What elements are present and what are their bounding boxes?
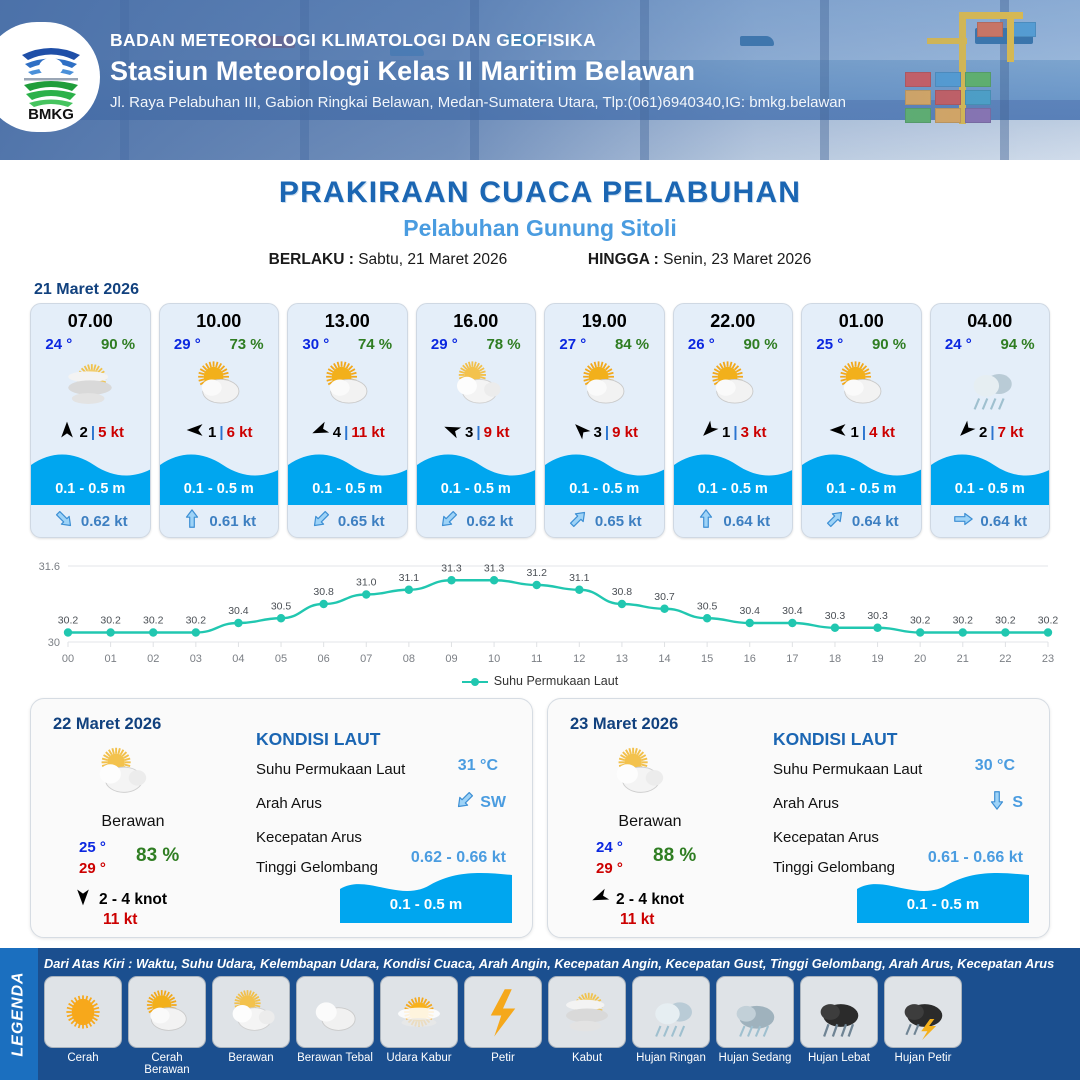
card-humidity: 74 % xyxy=(358,336,392,353)
summary-date: 22 Maret 2026 xyxy=(53,715,161,734)
wind-separator: | xyxy=(862,424,866,441)
card-wind-degree: 1 xyxy=(208,424,216,441)
svg-text:10: 10 xyxy=(488,653,500,665)
svg-text:30.5: 30.5 xyxy=(271,600,292,612)
summary-temp-max: 29 ° xyxy=(79,860,106,877)
summary-wind-range: 2 - 4 knot xyxy=(616,891,684,909)
legend-item-label: Udara Kabur xyxy=(380,1052,458,1064)
svg-text:31.3: 31.3 xyxy=(441,562,462,574)
svg-text:05: 05 xyxy=(275,653,287,665)
legend-item-label: Petir xyxy=(464,1052,542,1064)
sea-row-label: Kecepatan Arus xyxy=(256,829,362,846)
card-wind-degree: 2 xyxy=(80,424,88,441)
sea-row-label: Suhu Permukaan Laut xyxy=(256,761,405,778)
wind-direction-arrow-icon xyxy=(571,420,591,445)
svg-text:30.2: 30.2 xyxy=(910,615,931,627)
card-current: 0.61 kt xyxy=(160,505,279,537)
sea-row-label: Arah Arus xyxy=(773,795,839,812)
legend-hujan-lebat-icon xyxy=(800,976,878,1048)
title-block: PRAKIRAAN CUACA PELABUHAN Pelabuhan Gunu… xyxy=(0,160,1080,269)
card-wind-speed: 6 kt xyxy=(227,424,253,441)
card-temperature: 29 ° xyxy=(174,336,201,353)
svg-text:BMKG: BMKG xyxy=(28,106,74,121)
daily-summary-panels: 22 Maret 2026 Berawan 25 ° 29 ° 83 % 2 -… xyxy=(0,688,1080,938)
summary-wave: 0.1 - 0.5 m xyxy=(340,869,512,923)
svg-text:14: 14 xyxy=(658,653,670,665)
summary-temp-min: 25 ° xyxy=(79,839,106,856)
current-direction-arrow-icon xyxy=(438,508,460,535)
wind-direction-arrow-icon xyxy=(57,420,77,445)
card-wind-degree: 1 xyxy=(851,424,859,441)
legend-item-label: Hujan Petir xyxy=(884,1052,962,1064)
page-title: PRAKIRAAN CUACA PELABUHAN xyxy=(0,176,1080,210)
svg-text:23: 23 xyxy=(1042,653,1054,665)
svg-text:12: 12 xyxy=(573,653,585,665)
svg-text:31.3: 31.3 xyxy=(484,562,505,574)
daily-summary-panel: 23 Maret 2026 Berawan 24 ° 29 ° 88 % 2 -… xyxy=(547,698,1050,938)
svg-text:04: 04 xyxy=(232,653,244,665)
daily-summary-panel: 22 Maret 2026 Berawan 25 ° 29 ° 83 % 2 -… xyxy=(30,698,533,938)
svg-text:31.2: 31.2 xyxy=(526,567,547,579)
legend-item: Cerah xyxy=(44,976,122,1076)
card-humidity: 73 % xyxy=(229,336,263,353)
card-weather-cerah-berawan-icon xyxy=(674,353,793,415)
legend-items: Cerah Cerah Berawan Berawan Berawan Teba… xyxy=(44,976,962,1076)
current-direction-value: SW xyxy=(480,794,506,812)
legend-side-label: LEGENDA xyxy=(0,948,38,1080)
legend-petir-icon xyxy=(464,976,542,1048)
card-temperature: 24 ° xyxy=(945,336,972,353)
card-current: 0.64 kt xyxy=(931,505,1050,537)
card-wind: 2 | 7 kt xyxy=(931,415,1050,449)
card-temperature: 29 ° xyxy=(431,336,458,353)
svg-text:30.3: 30.3 xyxy=(825,610,846,622)
card-time: 04.00 xyxy=(931,304,1050,332)
card-wind: 1 | 3 kt xyxy=(674,415,793,449)
card-wave-height: 0.1 - 0.5 m xyxy=(545,481,664,497)
summary-gust: 11 kt xyxy=(103,911,137,929)
sea-row-label: Kecepatan Arus xyxy=(773,829,879,846)
card-current: 0.64 kt xyxy=(802,505,921,537)
legend-item: Hujan Petir xyxy=(884,976,962,1076)
page-header: BMKG BADAN METEOROLOGI KLIMATOLOGI DAN G… xyxy=(0,0,1080,160)
wind-direction-arrow-icon xyxy=(699,420,719,445)
forecast-card[interactable]: 10.00 29 ° 73 % 1 | 6 kt 0.1 - 0.5 m 0.6… xyxy=(159,303,280,538)
card-temperature: 27 ° xyxy=(559,336,586,353)
legend-berawan-icon xyxy=(212,976,290,1048)
sea-surface-temperature-value: 31 °C xyxy=(458,757,498,775)
sea-row-label: Arah Arus xyxy=(256,795,322,812)
card-current: 0.62 kt xyxy=(31,505,150,537)
svg-text:30.8: 30.8 xyxy=(612,586,633,598)
legend-hujan-petir-icon xyxy=(884,976,962,1048)
card-wave: 0.1 - 0.5 m xyxy=(31,449,150,505)
summary-current-direction-arrow-icon xyxy=(454,789,476,816)
summary-weather-berawan-icon xyxy=(89,741,151,808)
legend-item: Kabut xyxy=(548,976,626,1076)
svg-text:30: 30 xyxy=(48,637,60,649)
wind-separator: | xyxy=(91,424,95,441)
svg-text:30.3: 30.3 xyxy=(867,610,888,622)
card-wave-height: 0.1 - 0.5 m xyxy=(160,481,279,497)
forecast-card[interactable]: 07.00 24 ° 90 % 2 | 5 kt 0.1 - 0.5 m 0.6… xyxy=(30,303,151,538)
summary-wind: 2 - 4 knot xyxy=(73,887,167,912)
card-wind-speed: 3 kt xyxy=(741,424,767,441)
card-current-speed: 0.64 kt xyxy=(852,513,899,530)
current-direction-arrow-icon xyxy=(824,508,846,535)
svg-text:30.2: 30.2 xyxy=(995,615,1016,627)
card-current-speed: 0.64 kt xyxy=(723,513,770,530)
svg-text:03: 03 xyxy=(190,653,202,665)
summary-wave-height: 0.1 - 0.5 m xyxy=(340,896,512,913)
card-wind-speed: 7 kt xyxy=(998,424,1024,441)
card-wind-degree: 1 xyxy=(722,424,730,441)
svg-text:13: 13 xyxy=(616,653,628,665)
legend-item-label: Berawan xyxy=(212,1052,290,1064)
card-humidity: 90 % xyxy=(872,336,906,353)
card-wind-speed: 5 kt xyxy=(98,424,124,441)
wind-direction-arrow-icon xyxy=(828,420,848,445)
card-temperature: 30 ° xyxy=(302,336,329,353)
card-time: 22.00 xyxy=(674,304,793,332)
legend-cerah-berawan-icon xyxy=(128,976,206,1048)
card-weather-kabut-icon xyxy=(31,353,150,415)
forecast-card[interactable]: 01.00 25 ° 90 % 1 | 4 kt 0.1 - 0.5 m 0.6… xyxy=(801,303,922,538)
card-wave: 0.1 - 0.5 m xyxy=(417,449,536,505)
current-speed-value: 0.62 - 0.66 kt xyxy=(411,849,506,867)
current-direction-group: SW xyxy=(454,789,506,816)
forecast-card[interactable]: 04.00 24 ° 94 % 2 | 7 kt 0.1 - 0.5 m 0.6… xyxy=(930,303,1051,538)
card-wave-height: 0.1 - 0.5 m xyxy=(31,481,150,497)
card-wind-speed: 9 kt xyxy=(484,424,510,441)
card-current-speed: 0.65 kt xyxy=(595,513,642,530)
summary-condition: Berawan xyxy=(570,813,730,831)
bmkg-logo: BMKG xyxy=(0,22,100,132)
svg-text:30.8: 30.8 xyxy=(313,586,334,598)
summary-condition: Berawan xyxy=(53,813,213,831)
svg-text:16: 16 xyxy=(744,653,756,665)
header-org-line: BADAN METEOROLOGI KLIMATOLOGI DAN GEOFIS… xyxy=(110,30,846,51)
summary-wind-direction-arrow-icon xyxy=(590,887,610,912)
legend-udara-kabur-icon xyxy=(380,976,458,1048)
summary-wave-height: 0.1 - 0.5 m xyxy=(857,896,1029,913)
current-direction-arrow-icon xyxy=(310,508,332,535)
wind-separator: | xyxy=(990,424,994,441)
svg-text:07: 07 xyxy=(360,653,372,665)
card-wind-speed: 11 kt xyxy=(351,424,384,441)
card-wave-height: 0.1 - 0.5 m xyxy=(931,481,1050,497)
wind-separator: | xyxy=(733,424,737,441)
card-weather-berawan-icon xyxy=(417,353,536,415)
summary-date: 23 Maret 2026 xyxy=(570,715,678,734)
valid-from-label: BERLAKU : xyxy=(269,251,354,268)
card-current: 0.65 kt xyxy=(288,505,407,537)
svg-text:30.7: 30.7 xyxy=(654,591,675,603)
card-wave: 0.1 - 0.5 m xyxy=(802,449,921,505)
svg-text:17: 17 xyxy=(786,653,798,665)
card-current: 0.65 kt xyxy=(545,505,664,537)
legend-item: Berawan Tebal xyxy=(296,976,374,1076)
legend-item: Berawan xyxy=(212,976,290,1076)
card-time: 01.00 xyxy=(802,304,921,332)
wind-direction-arrow-icon xyxy=(185,420,205,445)
svg-text:30.4: 30.4 xyxy=(740,605,761,617)
summary-temp-min: 24 ° xyxy=(596,839,623,856)
card-wind: 3 | 9 kt xyxy=(417,415,536,449)
card-time: 16.00 xyxy=(417,304,536,332)
sea-temperature-chart: 31.63030.20030.20130.20230.20330.40430.5… xyxy=(20,552,1060,672)
card-humidity: 90 % xyxy=(743,336,777,353)
chart-legend: Suhu Permukaan Laut xyxy=(0,674,1080,688)
summary-humidity: 83 % xyxy=(136,845,179,867)
card-current-speed: 0.64 kt xyxy=(980,513,1027,530)
card-wind: 2 | 5 kt xyxy=(31,415,150,449)
svg-text:30.4: 30.4 xyxy=(228,605,249,617)
svg-text:09: 09 xyxy=(445,653,457,665)
current-speed-value: 0.61 - 0.66 kt xyxy=(928,849,1023,867)
current-direction-arrow-icon xyxy=(53,508,75,535)
sea-row-label: Suhu Permukaan Laut xyxy=(773,761,922,778)
svg-text:21: 21 xyxy=(957,653,969,665)
chart-legend-marker xyxy=(462,676,488,686)
card-wave-height: 0.1 - 0.5 m xyxy=(288,481,407,497)
legend-note: Dari Atas Kiri : Waktu, Suhu Udara, Kele… xyxy=(44,956,1054,971)
sea-surface-temperature-value: 30 °C xyxy=(975,757,1015,775)
forecast-card[interactable]: 13.00 30 ° 74 % 4 | 11 kt 0.1 - 0.5 m 0.… xyxy=(287,303,408,538)
legend-item-label: Cerah Berawan xyxy=(128,1052,206,1076)
legend-item: Petir xyxy=(464,976,542,1076)
card-temperature: 24 ° xyxy=(45,336,72,353)
card-wind-speed: 9 kt xyxy=(612,424,638,441)
svg-text:22: 22 xyxy=(999,653,1011,665)
card-wind: 4 | 11 kt xyxy=(288,415,407,449)
svg-text:30.2: 30.2 xyxy=(1038,615,1059,627)
card-current: 0.64 kt xyxy=(674,505,793,537)
card-wind-degree: 3 xyxy=(594,424,602,441)
svg-text:30.5: 30.5 xyxy=(697,600,718,612)
current-direction-group: S xyxy=(986,789,1023,816)
current-direction-arrow-icon xyxy=(181,508,203,535)
svg-text:30.2: 30.2 xyxy=(58,615,79,627)
card-wave-height: 0.1 - 0.5 m xyxy=(674,481,793,497)
card-current-speed: 0.62 kt xyxy=(466,513,513,530)
svg-text:15: 15 xyxy=(701,653,713,665)
card-wave: 0.1 - 0.5 m xyxy=(545,449,664,505)
legend-item-label: Hujan Ringan xyxy=(632,1052,710,1064)
forecast-day-label: 21 Maret 2026 xyxy=(34,281,1080,299)
svg-text:08: 08 xyxy=(403,653,415,665)
svg-text:30.2: 30.2 xyxy=(186,615,207,627)
header-station-name: Stasiun Meteorologi Kelas II Maritim Bel… xyxy=(110,56,846,87)
card-time: 07.00 xyxy=(31,304,150,332)
current-direction-arrow-icon xyxy=(952,508,974,535)
card-humidity: 94 % xyxy=(1000,336,1034,353)
legend-item-label: Cerah xyxy=(44,1052,122,1064)
svg-text:19: 19 xyxy=(871,653,883,665)
svg-text:30.2: 30.2 xyxy=(953,615,974,627)
legend-berawan-tebal-icon xyxy=(296,976,374,1048)
card-wave: 0.1 - 0.5 m xyxy=(288,449,407,505)
forecast-card[interactable]: 22.00 26 ° 90 % 1 | 3 kt 0.1 - 0.5 m 0.6… xyxy=(673,303,794,538)
legend-kabut-icon xyxy=(548,976,626,1048)
forecast-card[interactable]: 16.00 29 ° 78 % 3 | 9 kt 0.1 - 0.5 m 0.6… xyxy=(416,303,537,538)
summary-current-direction-arrow-icon xyxy=(986,789,1008,816)
card-wave-height: 0.1 - 0.5 m xyxy=(802,481,921,497)
legend-item: Udara Kabur xyxy=(380,976,458,1076)
svg-text:30.2: 30.2 xyxy=(143,615,164,627)
card-time: 10.00 xyxy=(160,304,279,332)
svg-text:31.0: 31.0 xyxy=(356,577,377,589)
legend-item: Hujan Ringan xyxy=(632,976,710,1076)
wind-direction-arrow-icon xyxy=(310,420,330,445)
card-humidity: 90 % xyxy=(101,336,135,353)
summary-weather-berawan-icon xyxy=(606,741,668,808)
legend-hujan-sedang-icon xyxy=(716,976,794,1048)
card-current-speed: 0.65 kt xyxy=(338,513,385,530)
svg-text:31.6: 31.6 xyxy=(39,561,60,573)
card-wind: 3 | 9 kt xyxy=(545,415,664,449)
legend-item: Hujan Lebat xyxy=(800,976,878,1076)
svg-text:31.1: 31.1 xyxy=(569,572,590,584)
valid-until-label: HINGGA : xyxy=(588,251,659,268)
legend-item-label: Hujan Lebat xyxy=(800,1052,878,1064)
validity-line: BERLAKU : Sabtu, 21 Maret 2026 HINGGA : … xyxy=(0,251,1080,269)
page-subtitle: Pelabuhan Gunung Sitoli xyxy=(0,215,1080,242)
forecast-card[interactable]: 19.00 27 ° 84 % 3 | 9 kt 0.1 - 0.5 m 0.6… xyxy=(544,303,665,538)
summary-wave: 0.1 - 0.5 m xyxy=(857,869,1029,923)
sea-condition-title: KONDISI LAUT xyxy=(773,729,897,750)
chart-legend-label: Suhu Permukaan Laut xyxy=(494,674,618,688)
card-humidity: 84 % xyxy=(615,336,649,353)
summary-gust: 11 kt xyxy=(620,911,654,929)
card-wind-degree: 4 xyxy=(333,424,341,441)
svg-text:02: 02 xyxy=(147,653,159,665)
card-weather-cerah-berawan-icon xyxy=(160,353,279,415)
card-wave: 0.1 - 0.5 m xyxy=(160,449,279,505)
svg-text:20: 20 xyxy=(914,653,926,665)
summary-temp-max: 29 ° xyxy=(596,860,623,877)
forecast-cards-row: 07.00 24 ° 90 % 2 | 5 kt 0.1 - 0.5 m 0.6… xyxy=(0,303,1080,538)
card-wave-height: 0.1 - 0.5 m xyxy=(417,481,536,497)
svg-text:11: 11 xyxy=(531,653,542,665)
current-direction-arrow-icon xyxy=(567,508,589,535)
svg-text:01: 01 xyxy=(104,653,116,665)
legend-cerah-icon xyxy=(44,976,122,1048)
card-weather-cerah-berawan-icon xyxy=(288,353,407,415)
wind-separator: | xyxy=(476,424,480,441)
svg-text:30.4: 30.4 xyxy=(782,605,803,617)
wind-direction-arrow-icon xyxy=(442,420,462,445)
svg-text:06: 06 xyxy=(318,653,330,665)
card-current-speed: 0.61 kt xyxy=(209,513,256,530)
legend-item: Cerah Berawan xyxy=(128,976,206,1076)
current-direction-value: S xyxy=(1012,794,1023,812)
card-weather-cerah-berawan-icon xyxy=(545,353,664,415)
card-wind: 1 | 4 kt xyxy=(802,415,921,449)
card-wave: 0.1 - 0.5 m xyxy=(674,449,793,505)
legend-item-label: Berawan Tebal xyxy=(296,1052,374,1064)
card-temperature: 25 ° xyxy=(816,336,843,353)
wind-separator: | xyxy=(344,424,348,441)
wind-direction-arrow-icon xyxy=(956,420,976,445)
valid-from-value: Sabtu, 21 Maret 2026 xyxy=(358,251,507,268)
card-current-speed: 0.62 kt xyxy=(81,513,128,530)
wind-separator: | xyxy=(605,424,609,441)
legend-bar: LEGENDA Dari Atas Kiri : Waktu, Suhu Uda… xyxy=(0,948,1080,1080)
svg-text:31.1: 31.1 xyxy=(399,572,420,584)
summary-wind-range: 2 - 4 knot xyxy=(99,891,167,909)
legend-hujan-ringan-icon xyxy=(632,976,710,1048)
card-humidity: 78 % xyxy=(486,336,520,353)
summary-wind-direction-arrow-icon xyxy=(73,887,93,912)
current-direction-arrow-icon xyxy=(695,508,717,535)
legend-item: Hujan Sedang xyxy=(716,976,794,1076)
card-wind-speed: 4 kt xyxy=(869,424,895,441)
card-wave: 0.1 - 0.5 m xyxy=(931,449,1050,505)
wind-separator: | xyxy=(219,424,223,441)
sea-condition-title: KONDISI LAUT xyxy=(256,729,380,750)
card-wind: 1 | 6 kt xyxy=(160,415,279,449)
svg-text:18: 18 xyxy=(829,653,841,665)
card-time: 19.00 xyxy=(545,304,664,332)
card-temperature: 26 ° xyxy=(688,336,715,353)
card-time: 13.00 xyxy=(288,304,407,332)
card-current: 0.62 kt xyxy=(417,505,536,537)
card-wind-degree: 3 xyxy=(465,424,473,441)
card-weather-cerah-berawan-icon xyxy=(802,353,921,415)
card-weather-hujan-ringan-icon xyxy=(931,353,1050,415)
summary-wind: 2 - 4 knot xyxy=(590,887,684,912)
valid-until-value: Senin, 23 Maret 2026 xyxy=(663,251,811,268)
card-wind-degree: 2 xyxy=(979,424,987,441)
svg-text:00: 00 xyxy=(62,653,74,665)
summary-humidity: 88 % xyxy=(653,845,696,867)
header-address: Jl. Raya Pelabuhan III, Gabion Ringkai B… xyxy=(110,94,846,111)
legend-item-label: Kabut xyxy=(548,1052,626,1064)
svg-text:30.2: 30.2 xyxy=(100,615,121,627)
legend-item-label: Hujan Sedang xyxy=(716,1052,794,1064)
